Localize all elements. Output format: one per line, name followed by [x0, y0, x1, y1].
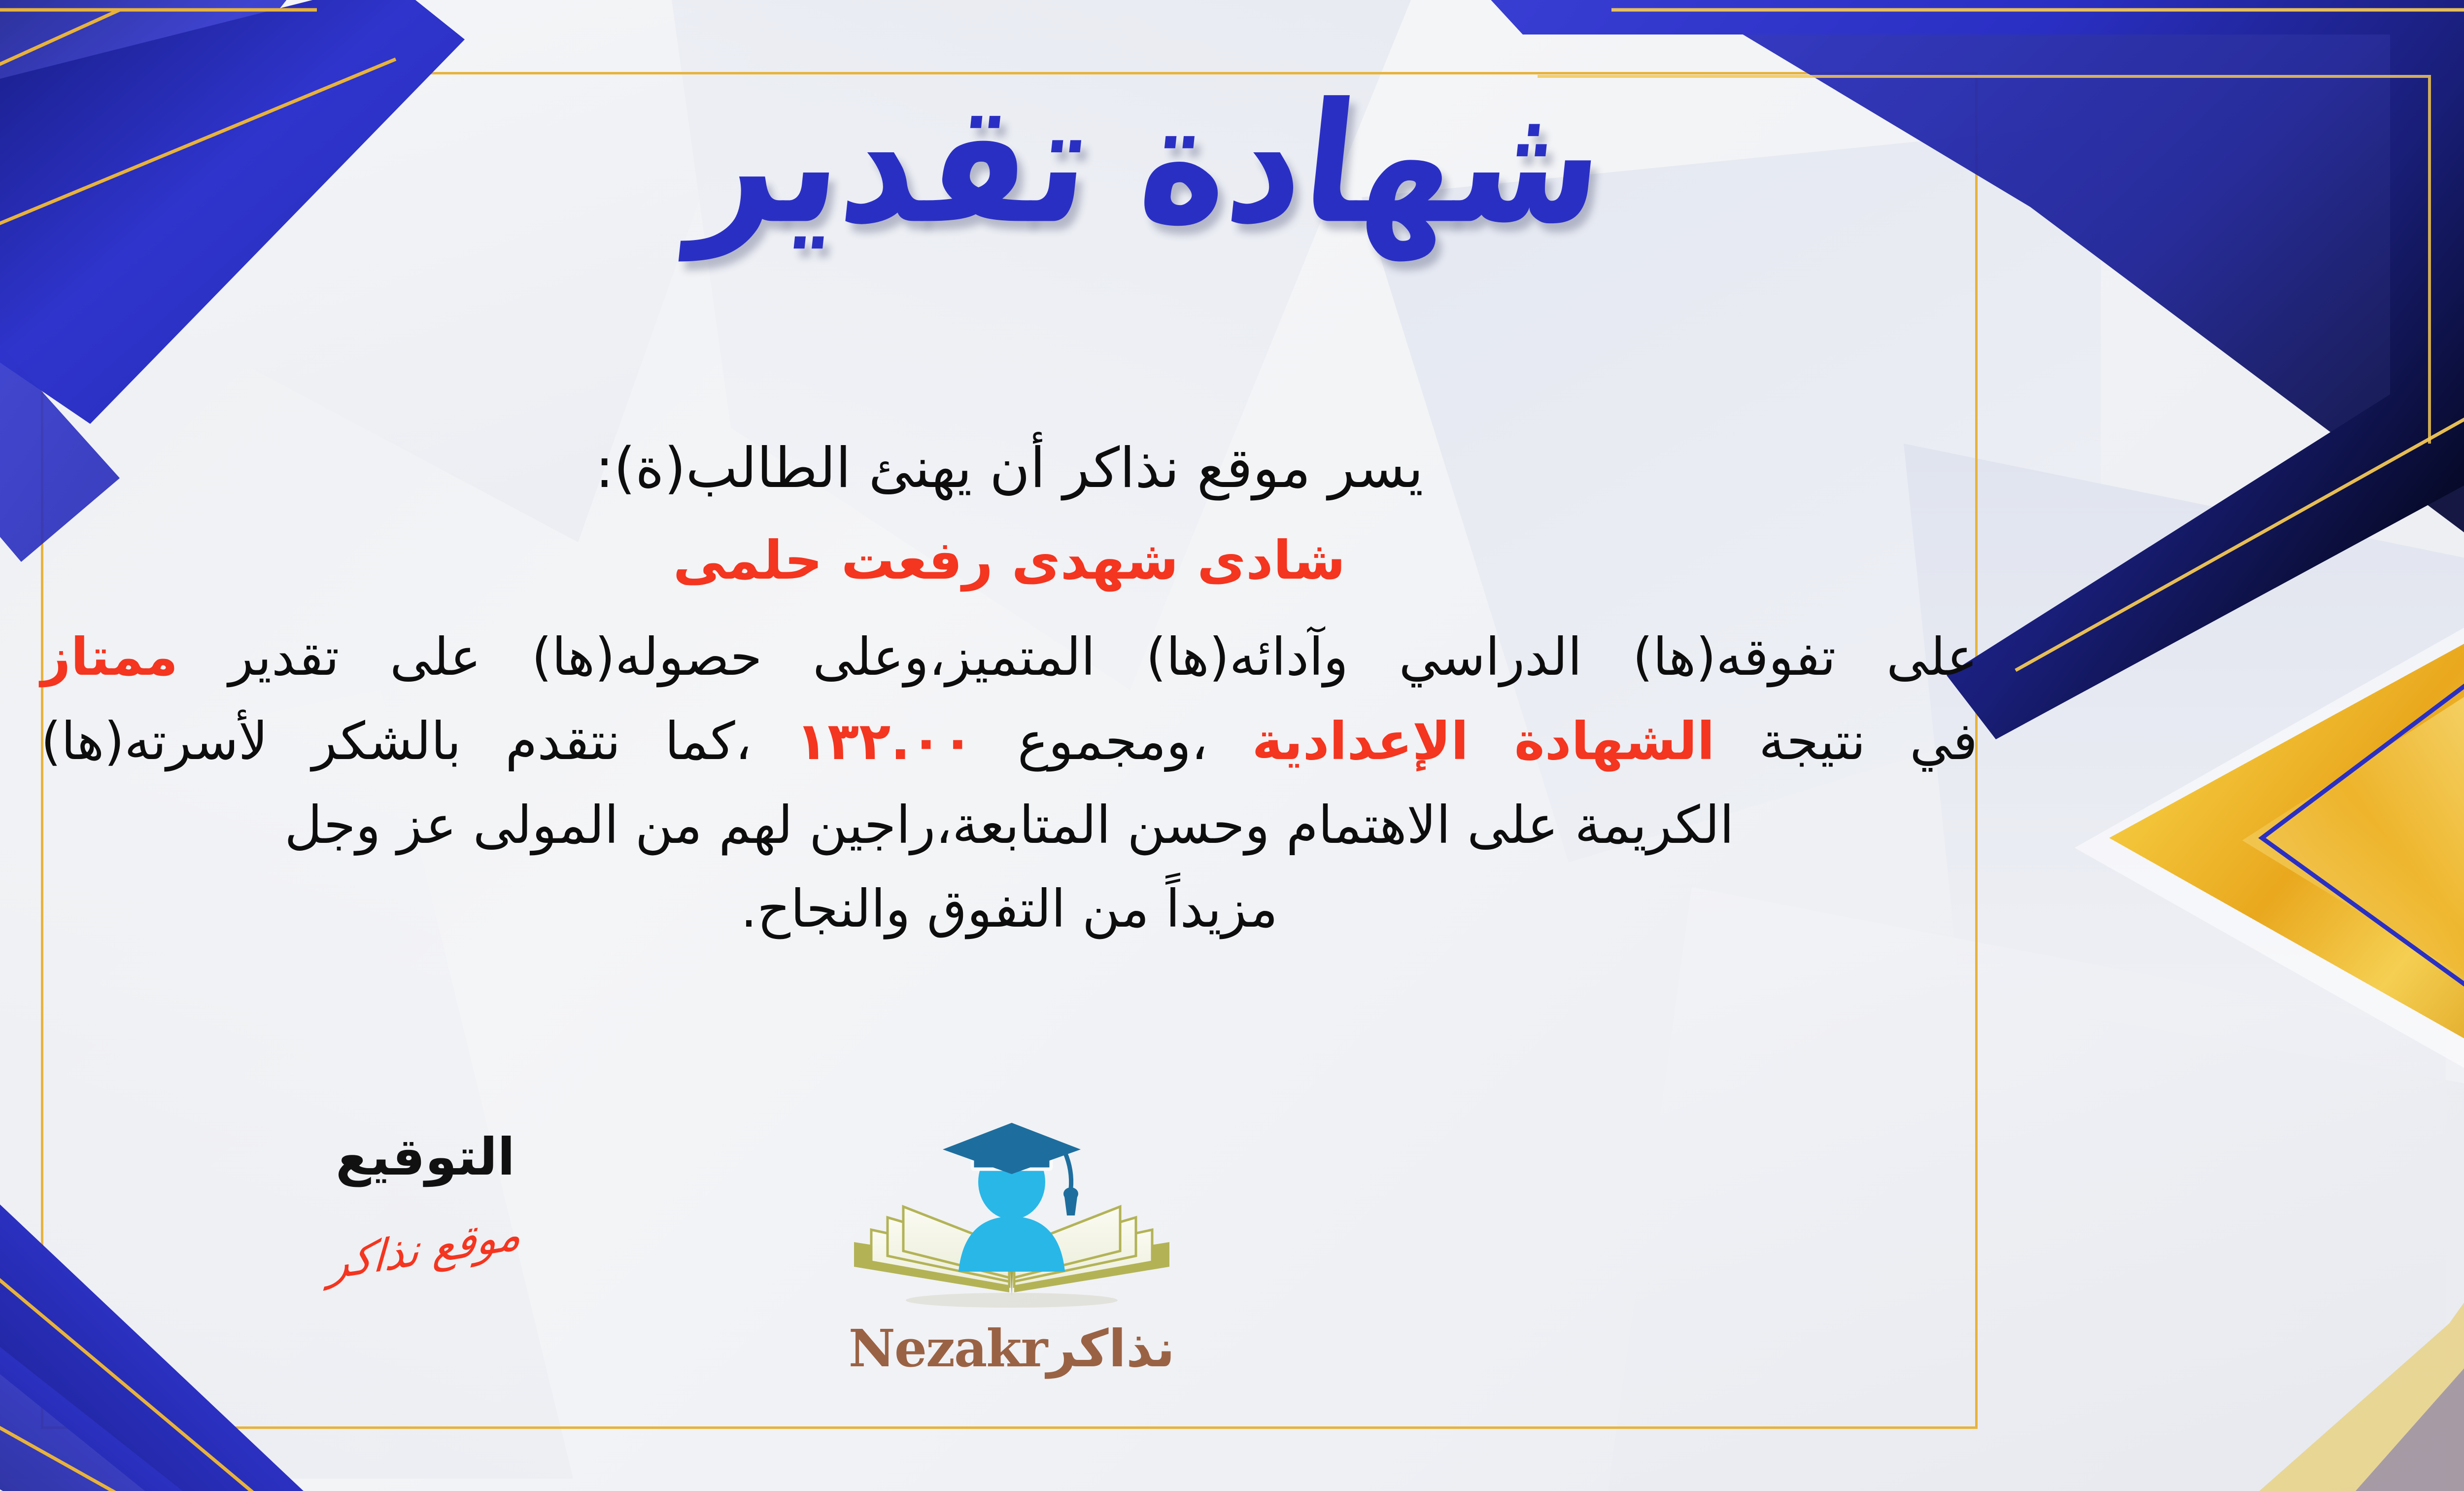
logo-name-en: Nezakr	[849, 1318, 1047, 1379]
intro-line: يسر موقع نذاكر أن يهنئ الطالب(ة):	[41, 424, 1978, 513]
closing-line: مزيداً من التفوق والنجاح.	[41, 867, 1978, 951]
signature-label: التوقيع	[238, 1129, 613, 1185]
total-score: ١٣٢.٠٠	[796, 711, 973, 771]
certificate-footer: التوقيع موقع نذاكر	[41, 1129, 1978, 1415]
achievement-line: على تفوقه(ها) الدراسي وآدائه(ها) المتميز…	[41, 615, 1978, 699]
result-suffix: ،كما نتقدم بالشكر لأسرته(ها)	[41, 711, 752, 771]
logo-name-ar: نذاكر	[1047, 1318, 1175, 1379]
page-title: شهادة تقدير	[684, 61, 1613, 268]
student-name: شادى شهدى رفعت حلمى	[41, 530, 1978, 591]
grade-value: ممتاز	[41, 627, 178, 687]
title-area: شهادة تقدير	[0, 71, 2464, 256]
frame-line-bottom	[41, 1426, 1978, 1429]
graduate-book-icon	[824, 1119, 1199, 1316]
certificate-name: الشهادة الإعدادية	[1252, 711, 1715, 771]
result-mid: ،ومجموع	[1018, 711, 1208, 771]
certificate-body: يسر موقع نذاكر أن يهنئ الطالب(ة): شادى ش…	[41, 424, 1978, 951]
gratitude-line: الكريمة على الاهتمام وحسن المتابعة،راجين…	[41, 783, 1978, 867]
site-logo: Nezakrنذاكر	[824, 1119, 1199, 1379]
signature-block: التوقيع موقع نذاكر	[238, 1129, 613, 1274]
result-prefix: في نتيجة	[1759, 711, 1978, 771]
achievement-text: على تفوقه(ها) الدراسي وآدائه(ها) المتميز…	[229, 627, 1978, 687]
certificate-page: شهادة تقدير يسر موقع نذاكر أن يهنئ الطال…	[0, 0, 2464, 1491]
result-line: في نتيجة الشهادة الإعدادية ،ومجموع ١٣٢.٠…	[41, 699, 1978, 783]
signature-mark: موقع نذاكر	[328, 1208, 523, 1290]
logo-wordmark: Nezakrنذاكر	[824, 1318, 1199, 1379]
